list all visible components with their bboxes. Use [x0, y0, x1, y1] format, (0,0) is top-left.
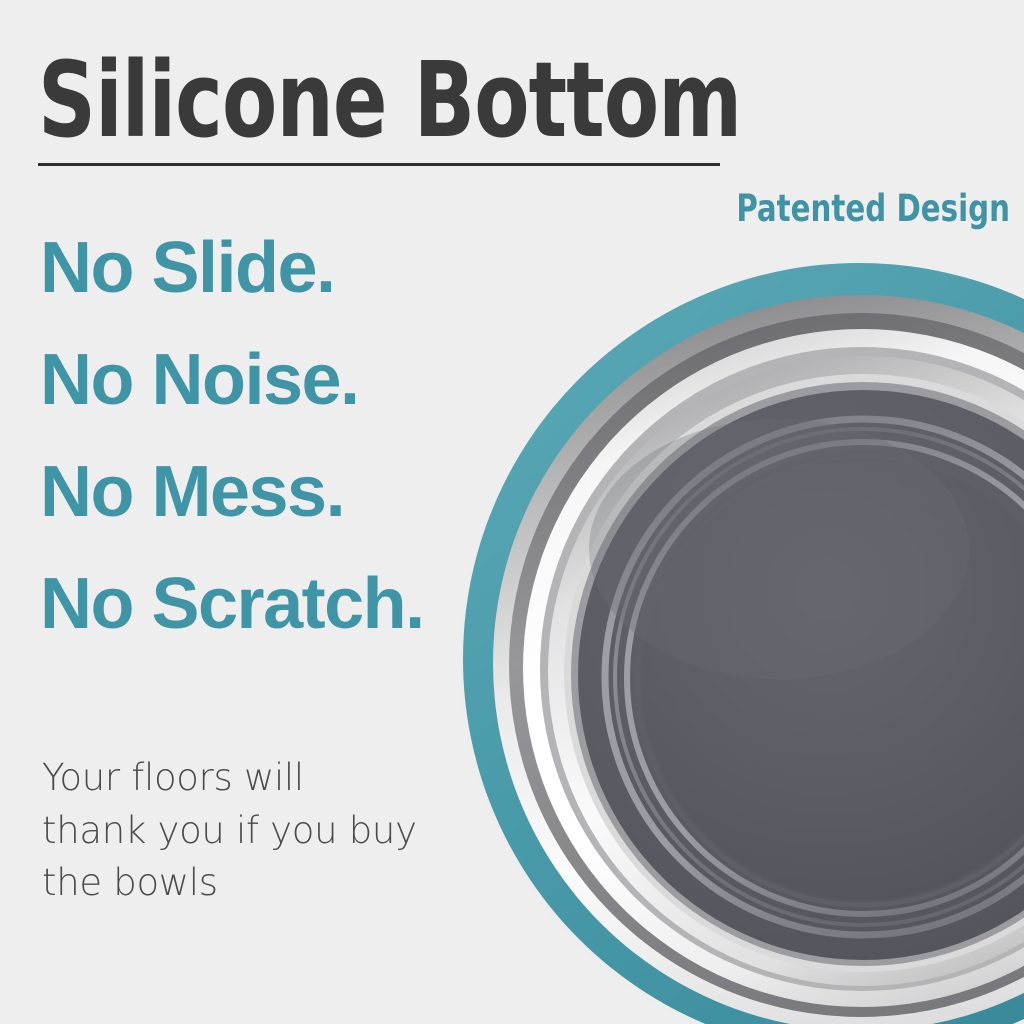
support-copy: Your floors will thank you if you buy th… — [42, 752, 462, 910]
title-divider — [38, 163, 720, 166]
support-copy-line-1: Your floors will — [42, 752, 462, 805]
benefit-item-no-slide: No Slide. — [40, 232, 424, 304]
infographic-canvas: Silicone Bottom Patented Design No Slide… — [0, 0, 1024, 1024]
benefit-item-no-mess: No Mess. — [40, 456, 424, 528]
support-copy-line-3: the bowls — [42, 857, 462, 910]
page-title: Silicone Bottom — [38, 50, 640, 151]
patented-design-badge: Patented Design — [736, 190, 1010, 227]
support-copy-line-2: thank you if you buy — [42, 805, 462, 858]
benefit-list: No Slide. No Noise. No Mess. No Scratch. — [40, 232, 424, 640]
product-bowl-image — [449, 249, 1024, 1024]
headline-block: Silicone Bottom — [38, 50, 738, 166]
benefit-item-no-noise: No Noise. — [40, 344, 424, 416]
benefit-item-no-scratch: No Scratch. — [40, 568, 424, 640]
